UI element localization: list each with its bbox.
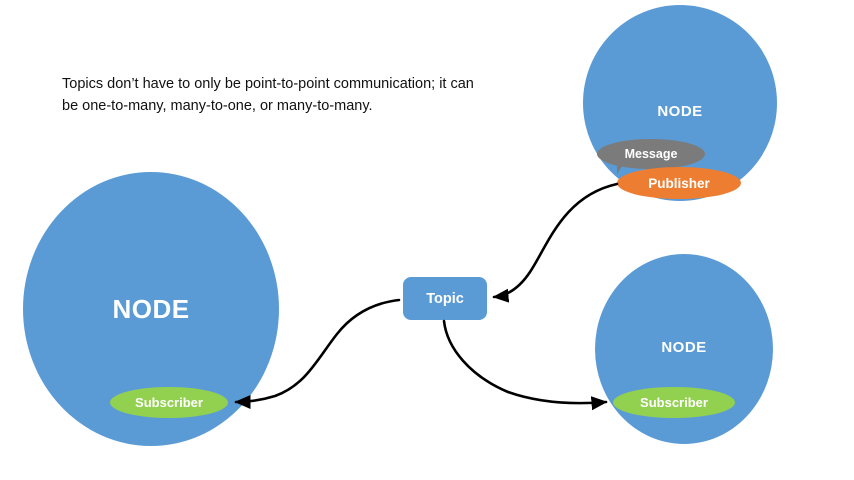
edge-publisher-to-topic — [494, 184, 617, 297]
publisher-label: Publisher — [648, 176, 710, 191]
message-bubble[interactable]: Message — [597, 139, 705, 169]
slide-canvas: Topics don’t have to only be point-to-po… — [0, 0, 854, 480]
topic-box[interactable]: Topic — [403, 277, 487, 320]
topic-label: Topic — [426, 291, 464, 307]
node-label-left: NODE — [23, 294, 279, 325]
node-label-bottom-right: NODE — [595, 339, 773, 356]
caption-text: Topics don’t have to only be point-to-po… — [62, 73, 482, 118]
subscriber-pill-left[interactable]: Subscriber — [110, 387, 228, 418]
edge-topic-to-subscriber-bottom-right — [444, 321, 606, 403]
subscriber-label-left: Subscriber — [135, 395, 203, 410]
subscriber-pill-bottom-right[interactable]: Subscriber — [613, 387, 735, 418]
node-label-top-right: NODE — [583, 103, 777, 120]
publisher-pill[interactable]: Publisher — [617, 167, 741, 199]
message-bubble-tail-icon — [617, 160, 626, 174]
message-label: Message — [625, 147, 678, 161]
subscriber-label-bottom-right: Subscriber — [640, 395, 708, 410]
